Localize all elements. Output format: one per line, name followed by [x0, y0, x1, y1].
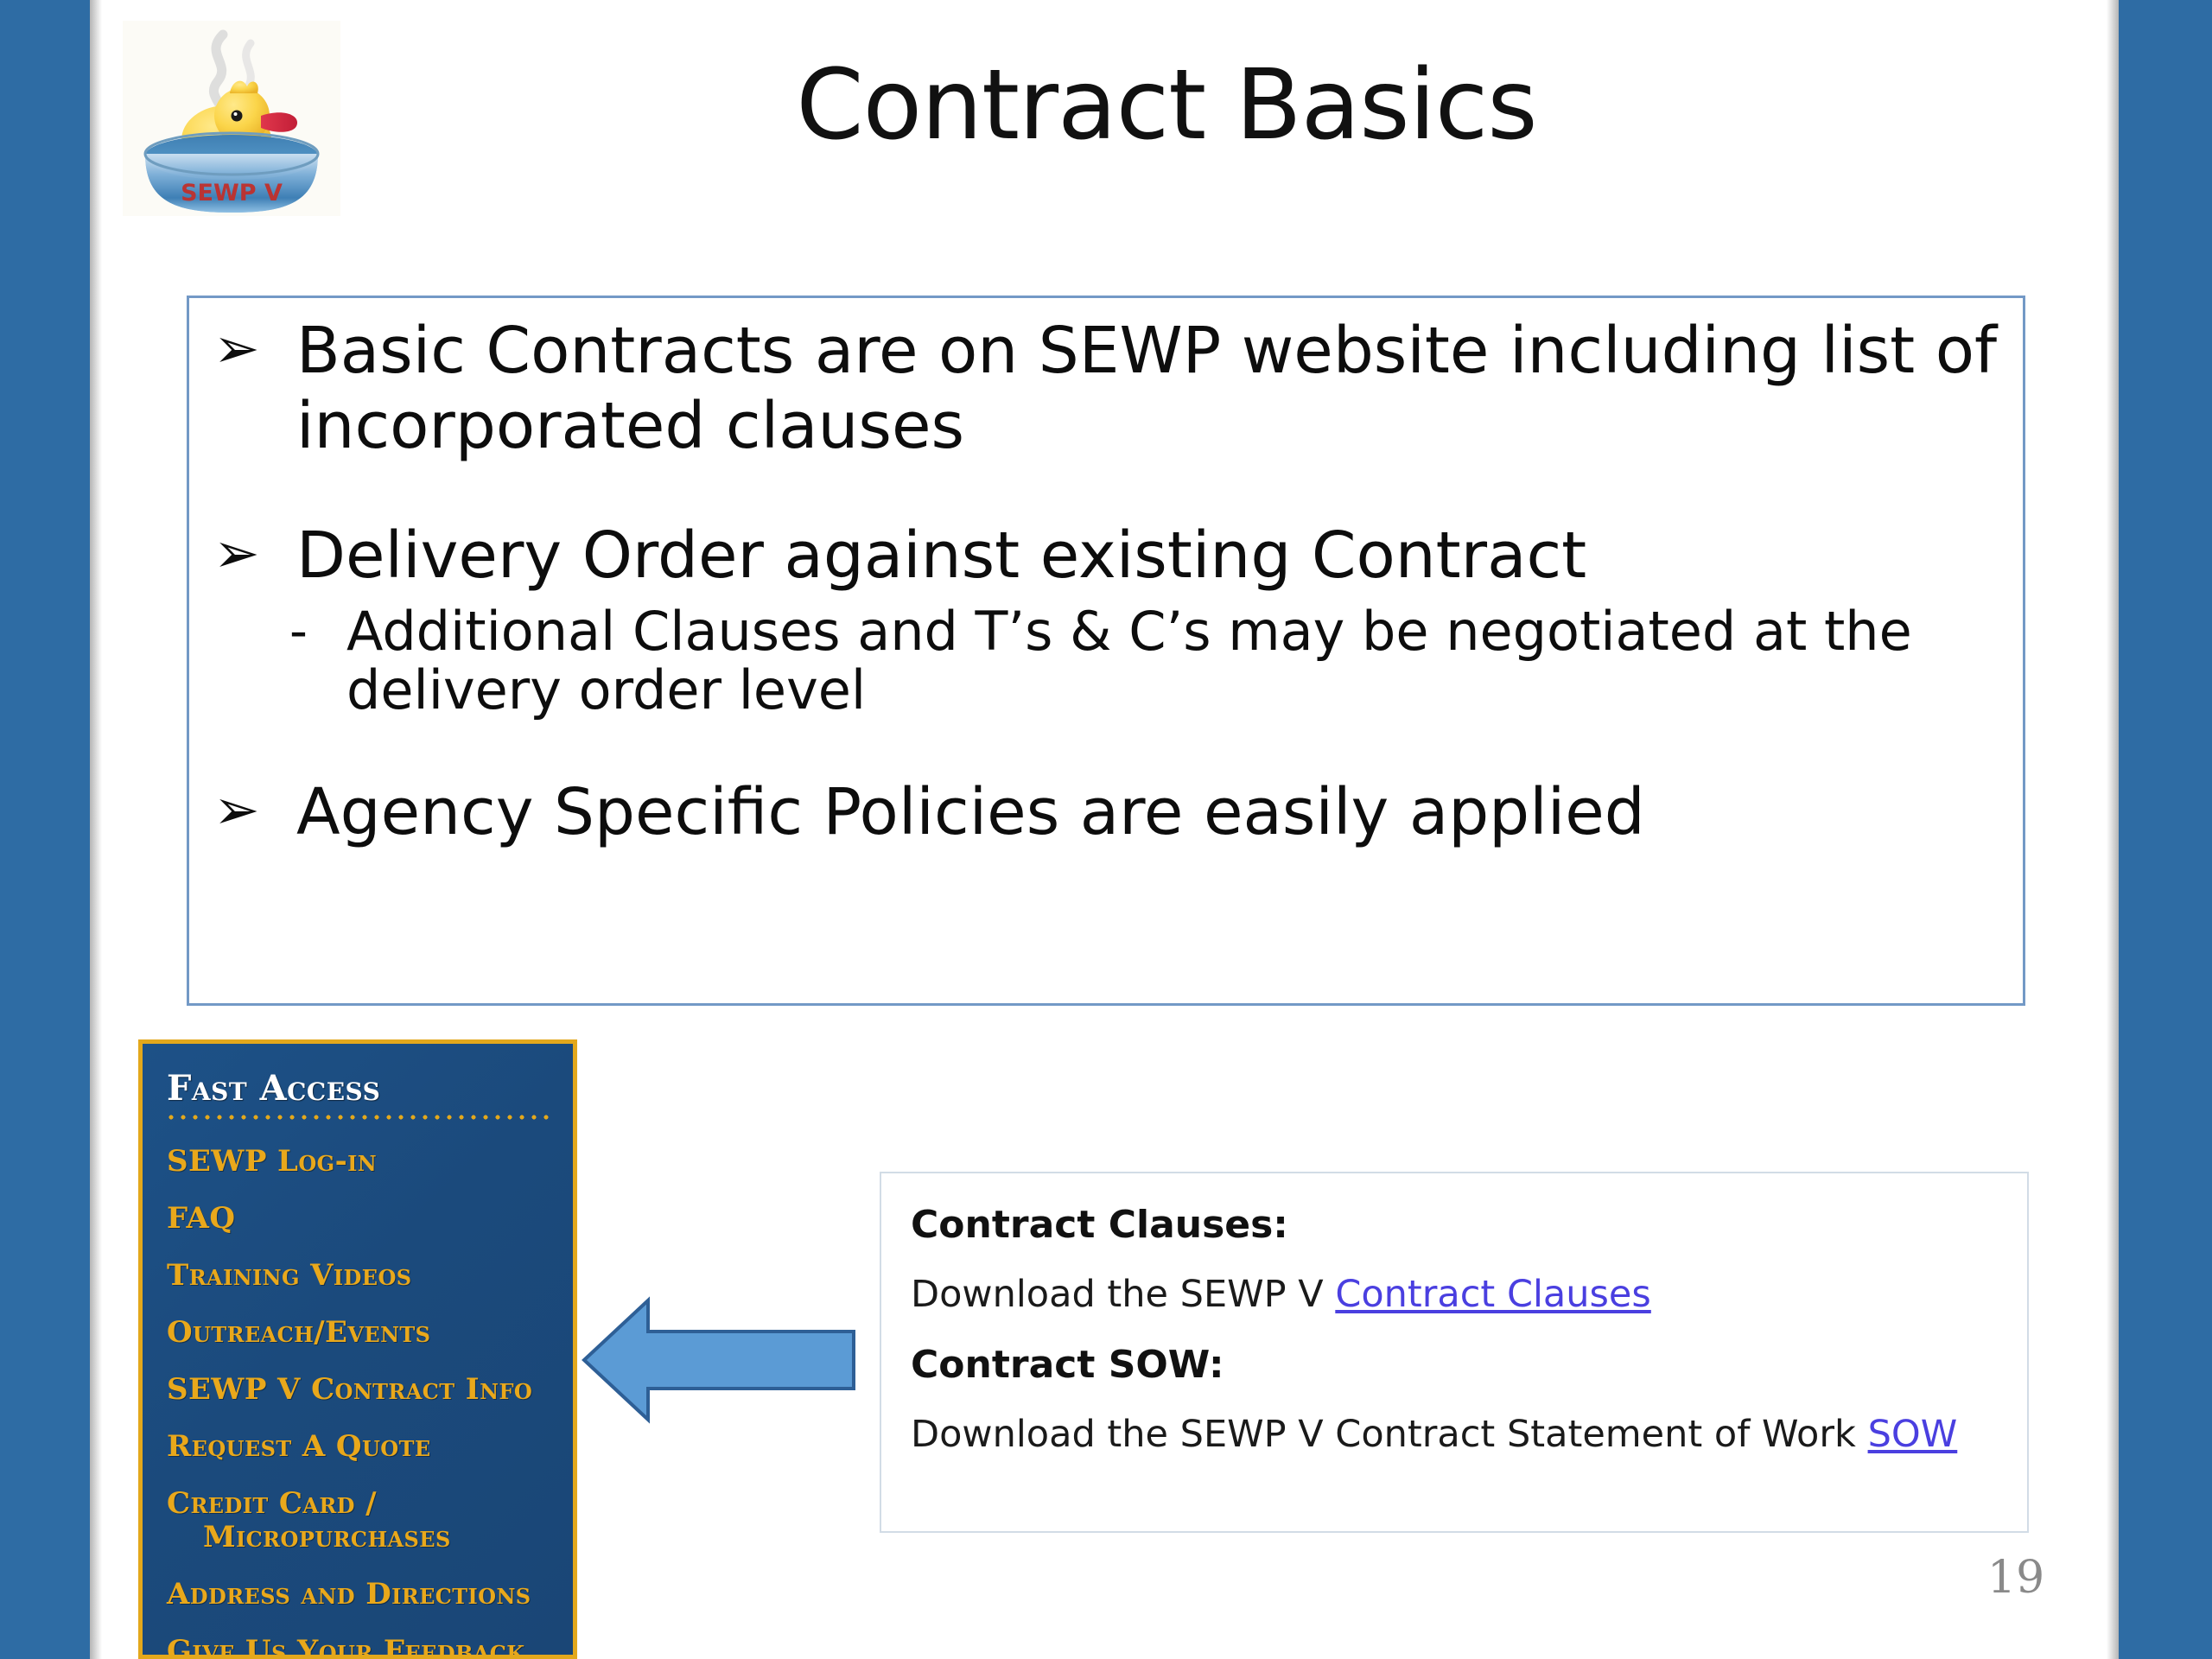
contract-clauses-link[interactable]: Contract Clauses [1335, 1273, 1650, 1316]
bullet-marker-icon: ➢ [213, 314, 296, 385]
contract-sow-heading: Contract SOW: [911, 1343, 1999, 1389]
svg-text:SEWP V: SEWP V [181, 180, 283, 207]
contract-sow-link[interactable]: SOW [1868, 1413, 1958, 1456]
fast-access-item-give-us-your-feedback[interactable]: Give Us Your Feedback [167, 1635, 573, 1659]
fast-access-item-sewp-login[interactable]: SEWP Log-in [167, 1145, 573, 1178]
contract-clauses-line: Download the SEWP V Contract Clauses [911, 1273, 1999, 1318]
page-title: Contract Basics [346, 50, 1987, 162]
sub-bullet-marker-icon: - [289, 602, 346, 660]
right-accent-band [2119, 0, 2212, 1659]
bullet-item: ➢ Agency Specific Policies are easily ap… [213, 775, 1999, 850]
contract-clauses-heading: Contract Clauses: [911, 1203, 1999, 1249]
slide-canvas: SEWP V Contract Basics ➢ Basic Contracts… [0, 0, 2212, 1659]
fast-access-item-sewp-v-contract-info[interactable]: SEWP V Contract Info [167, 1373, 573, 1406]
fast-access-item-training-videos[interactable]: Training Videos [167, 1259, 573, 1292]
bullet-text: Delivery Order against existing Contract [296, 518, 1999, 594]
left-accent-band [0, 0, 90, 1659]
fast-access-item-credit-card-micropurchases[interactable]: Credit Card / Micropurchases [167, 1487, 573, 1553]
bullet-marker-icon: ➢ [213, 775, 296, 847]
bullet-item: ➢ Delivery Order against existing Contra… [213, 518, 1999, 594]
fast-access-title: Fast Access [143, 1059, 573, 1110]
fast-access-list: SEWP Log-in FAQ Training Videos Outreach… [143, 1145, 573, 1659]
fast-access-item-faq[interactable]: FAQ [167, 1202, 573, 1235]
contract-info-box: Contract Clauses: Download the SEWP V Co… [880, 1172, 2029, 1533]
left-pointing-arrow-icon [581, 1292, 857, 1428]
fast-access-item-request-a-quote[interactable]: Request A Quote [167, 1430, 573, 1463]
left-band-shadow [90, 0, 102, 1659]
fast-access-item-address-and-directions[interactable]: Address and Directions [167, 1578, 573, 1611]
spacer [911, 1317, 1999, 1336]
sub-bullet-text: Additional Clauses and T’s & C’s may be … [346, 602, 1999, 720]
sub-bullet-item: - Additional Clauses and T’s & C’s may b… [213, 602, 1999, 720]
bullet-text: Basic Contracts are on SEWP website incl… [296, 314, 1999, 465]
fast-access-divider [165, 1114, 554, 1121]
main-content-box: ➢ Basic Contracts are on SEWP website in… [187, 296, 2025, 1006]
bullet-item: ➢ Basic Contracts are on SEWP website in… [213, 314, 1999, 465]
bullet-text: Agency Specific Policies are easily appl… [296, 775, 1999, 850]
fast-access-item-outreach-events[interactable]: Outreach/Events [167, 1316, 573, 1349]
fast-access-item-line2: Micropurchases [167, 1521, 573, 1554]
page-number: 19 [1987, 1552, 2044, 1604]
spacer [213, 720, 1999, 775]
fast-access-item-line1: Credit Card / [167, 1486, 377, 1521]
bullet-marker-icon: ➢ [213, 518, 296, 590]
spacer [213, 470, 1999, 518]
contract-sow-line: Download the SEWP V Contract Statement o… [911, 1413, 1999, 1458]
fast-access-panel: Fast Access SEWP Log-in FAQ Training Vid… [138, 1039, 577, 1659]
contract-clauses-prefix: Download the SEWP V [911, 1273, 1335, 1316]
contract-sow-prefix: Download the SEWP V Contract Statement o… [911, 1413, 1868, 1456]
right-band-shadow [2107, 0, 2119, 1659]
sewp-v-duck-logo: SEWP V [121, 19, 342, 218]
